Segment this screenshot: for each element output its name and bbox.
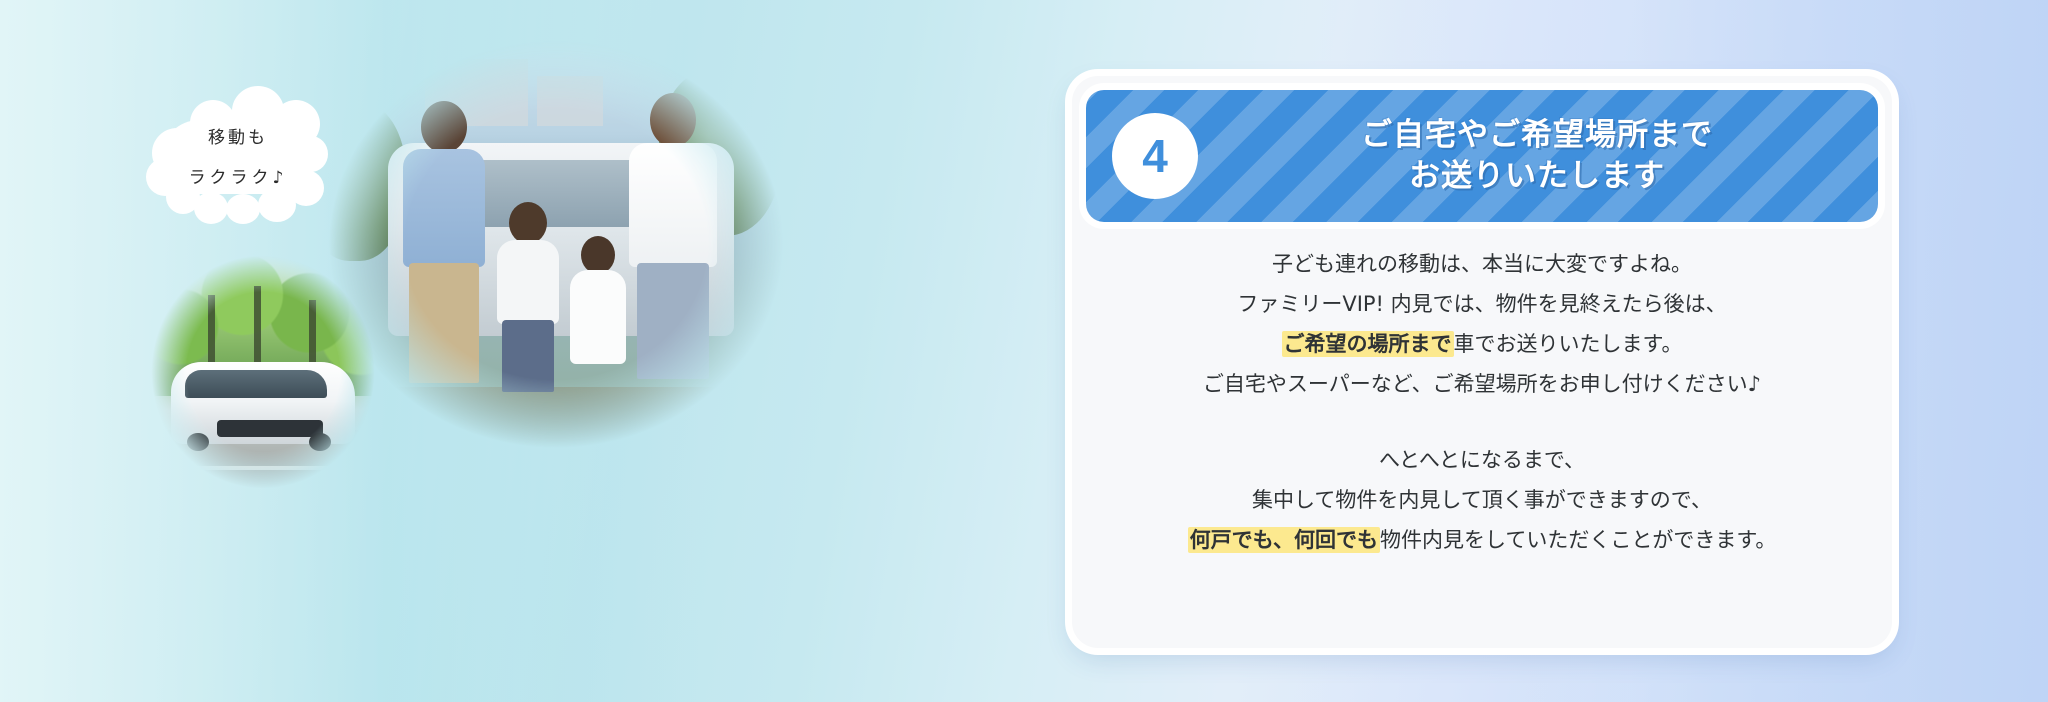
photo-car-glass (185, 370, 328, 399)
person-legs (502, 320, 554, 392)
bubble-line-2: ラクラク♪ (148, 158, 328, 198)
paragraph-1-line-4: ご自宅やスーパーなど、ご希望場所をお申し付けください♪ (1102, 364, 1862, 404)
card-title-line-2: お送りいたします (1216, 156, 1858, 197)
person-legs (637, 263, 709, 379)
highlight-desired-location: ご希望の場所まで (1282, 331, 1454, 357)
person-legs (409, 263, 479, 383)
bubble-text: 移動も ラクラク♪ (148, 118, 328, 198)
card-title: ご自宅やご希望場所まで お送りいたします (1216, 115, 1858, 197)
paragraph-2-line-1: へとへとになるまで、 (1102, 440, 1862, 480)
person-torso (403, 149, 485, 267)
photo-road-line (162, 466, 364, 470)
promo-banner: 移動も ラクラク♪ (0, 0, 2048, 702)
person-head (509, 202, 547, 244)
photo-building (537, 76, 603, 126)
highlight-unlimited-viewings: 何戸でも、何回でも (1188, 527, 1380, 553)
speech-bubble: 移動も ラクラク♪ (148, 84, 328, 224)
paragraph-spacer (1102, 404, 1862, 440)
person-torso (497, 240, 559, 324)
person-head (421, 101, 467, 153)
person-torso (570, 270, 626, 364)
paragraph-2-line-3-rest: 物件内見をしていただくことができます。 (1380, 528, 1776, 552)
person-head (650, 93, 696, 147)
info-card: 4 ご自宅やご希望場所まで お送りいたします 子ども連れの移動は、本当に大変です… (1072, 76, 1892, 648)
step-number-badge: 4 (1112, 113, 1198, 199)
bubble-puff (226, 194, 260, 224)
card-header-banner: 4 ご自宅やご希望場所まで お送りいたします (1086, 90, 1878, 222)
paragraph-1-line-1: 子ども連れの移動は、本当に大変ですよね。 (1102, 244, 1862, 284)
paragraph-2-line-3: 何戸でも、何回でも物件内見をしていただくことができます。 (1102, 520, 1862, 560)
family-photo (322, 34, 790, 454)
car-photo (148, 252, 378, 492)
person-torso (629, 143, 717, 267)
person-head (581, 236, 615, 274)
photo-car-grille (217, 420, 323, 437)
paragraph-1-line-2: ファミリーVIP! 内見では、物件を見終えたら後は、 (1102, 284, 1862, 324)
card-body-text: 子ども連れの移動は、本当に大変ですよね。 ファミリーVIP! 内見では、物件を見… (1102, 244, 1862, 624)
card-title-line-1: ご自宅やご希望場所まで (1216, 115, 1858, 156)
paragraph-1-line-3: ご希望の場所まで車でお送りいたします。 (1102, 324, 1862, 364)
bubble-line-1: 移動も (148, 118, 328, 158)
paragraph-2-line-2: 集中して物件を内見して頂く事ができますので、 (1102, 480, 1862, 520)
photo-person-girl (556, 236, 640, 446)
paragraph-1-line-3-rest: 車でお送りいたします。 (1454, 332, 1683, 356)
